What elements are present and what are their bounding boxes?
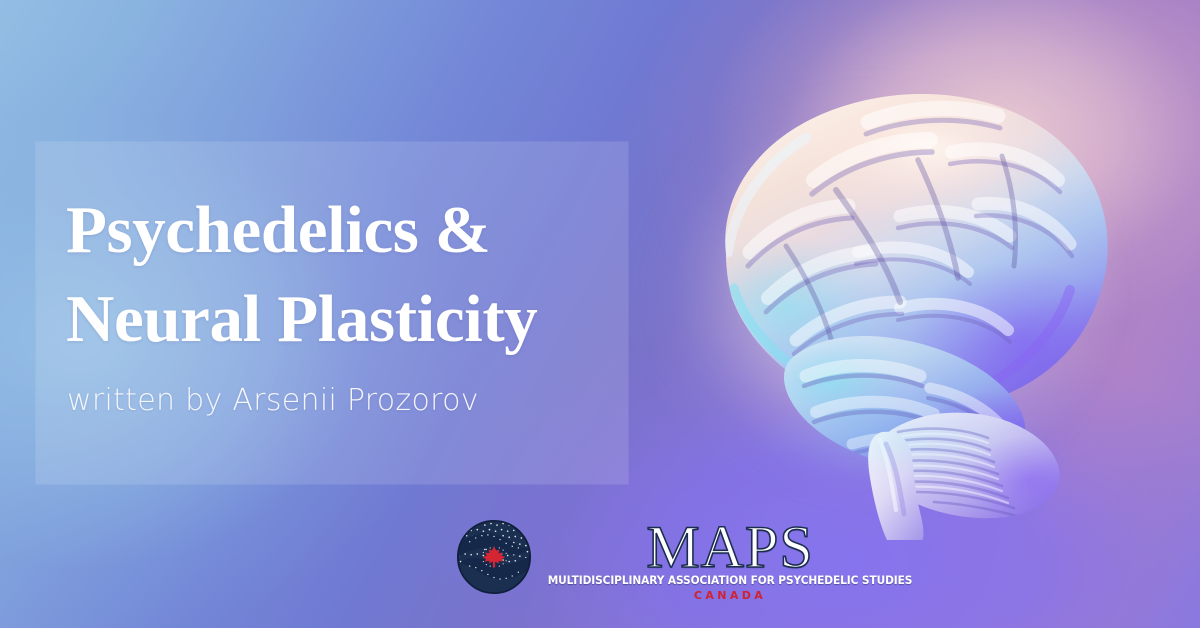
maps-wordmark: MAPS [646, 523, 813, 572]
brain-illustration-svg [600, 40, 1160, 540]
brain-artwork [600, 40, 1160, 540]
article-hero-banner: Psychedelics & Neural Plasticity written… [0, 0, 1200, 628]
page-title: Psychedelics & Neural Plasticity [66, 186, 666, 364]
maps-emblem-icon [456, 519, 532, 595]
maps-canada-logo[interactable]: MAPS MULTIDISCIPLINARY ASSOCIATION FOR P… [456, 519, 776, 601]
maps-tagline: MULTIDISCIPLINARY ASSOCIATION FOR PSYCHE… [548, 575, 913, 586]
maps-logo-text: MAPS MULTIDISCIPLINARY ASSOCIATION FOR P… [534, 519, 926, 601]
maps-country-label: CANADA [694, 590, 766, 601]
byline: written by Arsenii Prozorov [67, 383, 479, 418]
